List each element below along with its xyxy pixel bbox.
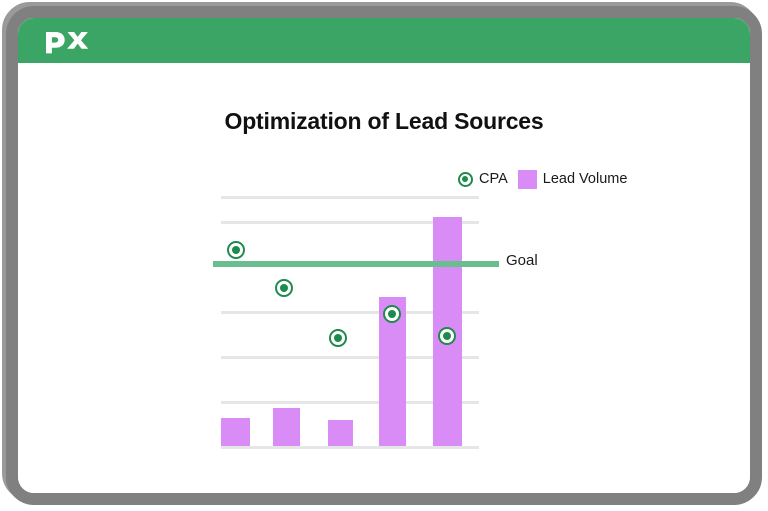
- bar[interactable]: [328, 420, 353, 446]
- cpa-point[interactable]: [383, 305, 401, 323]
- chart-plot-area: Goal: [203, 168, 663, 443]
- goal-line: [213, 261, 499, 267]
- gridline: [221, 446, 479, 449]
- app-card: Optimization of Lead Sources CPA Lead Vo…: [18, 18, 750, 493]
- bar[interactable]: [273, 408, 300, 446]
- chart-bars: [203, 168, 461, 436]
- cpa-point[interactable]: [227, 241, 245, 259]
- app-header: [18, 18, 750, 63]
- px-logo[interactable]: [44, 28, 90, 54]
- bar[interactable]: [221, 418, 250, 446]
- chart-title: Optimization of Lead Sources: [18, 108, 750, 135]
- cpa-point[interactable]: [329, 329, 347, 347]
- cpa-point[interactable]: [275, 279, 293, 297]
- goal-label: Goal: [506, 252, 538, 269]
- cpa-point[interactable]: [438, 327, 456, 345]
- screenshot-root: Optimization of Lead Sources CPA Lead Vo…: [0, 0, 768, 511]
